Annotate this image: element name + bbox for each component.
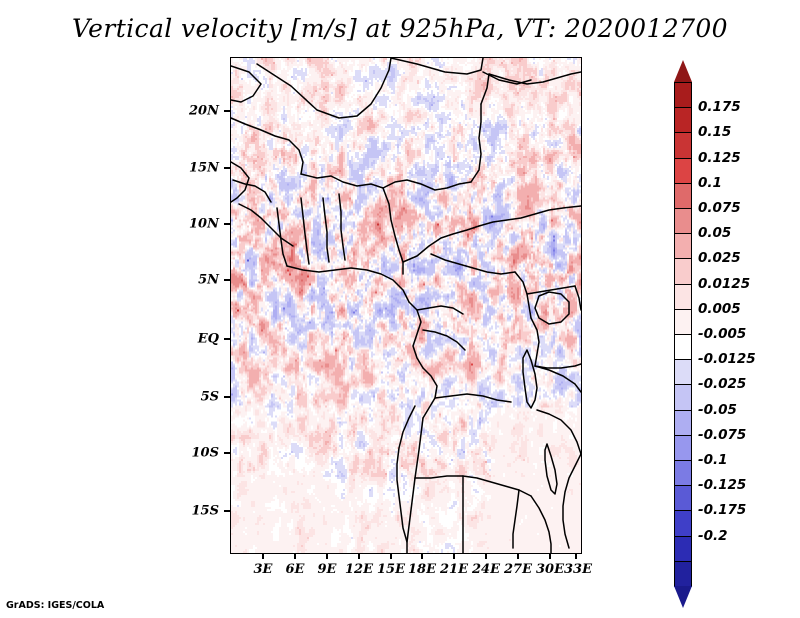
- admin-boundary-lines: [231, 58, 581, 553]
- colorbar-tick-label: 0.0125: [698, 276, 750, 292]
- colorbar-swatch[interactable]: [674, 183, 692, 210]
- xtick-15E: [390, 553, 392, 559]
- xtick-label-9E: 9E: [318, 562, 337, 577]
- colorbar-tick-label: 0.075: [698, 200, 741, 216]
- ytick-label-5S: 5S: [185, 390, 219, 405]
- ytick-label-10S: 10S: [185, 446, 219, 461]
- ytick-label-10N: 10N: [185, 217, 219, 232]
- xtick-label-24E: 24E: [472, 562, 500, 577]
- xtick-label-18E: 18E: [408, 562, 436, 577]
- xtick-label-21E: 21E: [440, 562, 468, 577]
- ytick-label-5N: 5N: [185, 273, 219, 288]
- colorbar-swatch[interactable]: [674, 510, 692, 537]
- xtick-label-33E: 33E: [564, 562, 592, 577]
- xtick-21E: [453, 553, 455, 559]
- colorbar-tick-label: 0.005: [698, 301, 741, 317]
- colorbar-swatch[interactable]: [674, 258, 692, 285]
- xtick-6E: [294, 553, 296, 559]
- xtick-3E: [262, 553, 264, 559]
- colorbar-swatch[interactable]: [674, 309, 692, 336]
- ytick-20N: [224, 110, 230, 112]
- ytick-label-20N: 20N: [185, 104, 219, 119]
- footer-credit: GrADS: IGES/COLA: [6, 600, 104, 611]
- colorbar-swatch[interactable]: [674, 233, 692, 260]
- colorbar[interactable]: [674, 60, 692, 557]
- xtick-label-3E: 3E: [254, 562, 273, 577]
- colorbar-swatch[interactable]: [674, 284, 692, 311]
- colorbar-swatch[interactable]: [674, 460, 692, 487]
- colorbar-swatch[interactable]: [674, 107, 692, 134]
- colorbar-swatch[interactable]: [674, 359, 692, 386]
- ytick-15N: [224, 167, 230, 169]
- xtick-33E: [575, 553, 577, 559]
- ytick-EQ: [224, 338, 230, 340]
- colorbar-swatch[interactable]: [674, 208, 692, 235]
- colorbar-tick-label: -0.2: [698, 528, 728, 544]
- map-panel[interactable]: [230, 57, 582, 554]
- ytick-label-15S: 15S: [185, 504, 219, 519]
- ytick-5N: [224, 279, 230, 281]
- ytick-10S: [224, 452, 230, 454]
- colorbar-tick-label: 0.15: [698, 124, 731, 140]
- colorbar-tick-label: -0.005: [698, 326, 746, 342]
- xtick-label-15E: 15E: [377, 562, 405, 577]
- ytick-5S: [224, 396, 230, 398]
- colorbar-tick-label: -0.1: [698, 452, 728, 468]
- xtick-12E: [358, 553, 360, 559]
- colorbar-swatch[interactable]: [674, 334, 692, 361]
- triangle-up-icon: [674, 60, 692, 82]
- colorbar-tick-label: -0.125: [698, 477, 746, 493]
- colorbar-swatch[interactable]: [674, 158, 692, 185]
- xtick-9E: [326, 553, 328, 559]
- xtick-27E: [517, 553, 519, 559]
- colorbar-tick-label: 0.025: [698, 250, 741, 266]
- colorbar-swatch[interactable]: [674, 536, 692, 563]
- xtick-label-6E: 6E: [286, 562, 305, 577]
- xtick-label-12E: 12E: [345, 562, 373, 577]
- triangle-down-icon: [674, 586, 692, 608]
- ytick-label-15N: 15N: [185, 161, 219, 176]
- colorbar-tick-label: 0.175: [698, 99, 741, 115]
- colorbar-swatch[interactable]: [674, 561, 692, 588]
- colorbar-tick-label: 0.125: [698, 150, 741, 166]
- xtick-24E: [485, 553, 487, 559]
- colorbar-swatch[interactable]: [674, 485, 692, 512]
- colorbar-swatch[interactable]: [674, 82, 692, 109]
- colorbar-swatch[interactable]: [674, 132, 692, 159]
- colorbar-tick-label: -0.075: [698, 427, 746, 443]
- page-title: Vertical velocity [m/s] at 925hPa, VT: 2…: [0, 14, 800, 43]
- colorbar-swatch[interactable]: [674, 435, 692, 462]
- colorbar-tick-label: 0.1: [698, 175, 722, 191]
- xtick-label-27E: 27E: [504, 562, 532, 577]
- colorbar-swatch[interactable]: [674, 410, 692, 437]
- colorbar-tick-label: 0.05: [698, 225, 731, 241]
- ytick-label-EQ: EQ: [185, 332, 219, 347]
- colorbar-tick-label: -0.175: [698, 502, 746, 518]
- country-borders-overlay: [231, 58, 581, 553]
- ytick-10N: [224, 223, 230, 225]
- xtick-30E: [549, 553, 551, 559]
- colorbar-tick-label: -0.0125: [698, 351, 756, 367]
- colorbar-tick-label: -0.025: [698, 376, 746, 392]
- ytick-15S: [224, 510, 230, 512]
- colorbar-swatch[interactable]: [674, 384, 692, 411]
- colorbar-tick-label: -0.05: [698, 402, 737, 418]
- xtick-18E: [421, 553, 423, 559]
- xtick-label-30E: 30E: [536, 562, 564, 577]
